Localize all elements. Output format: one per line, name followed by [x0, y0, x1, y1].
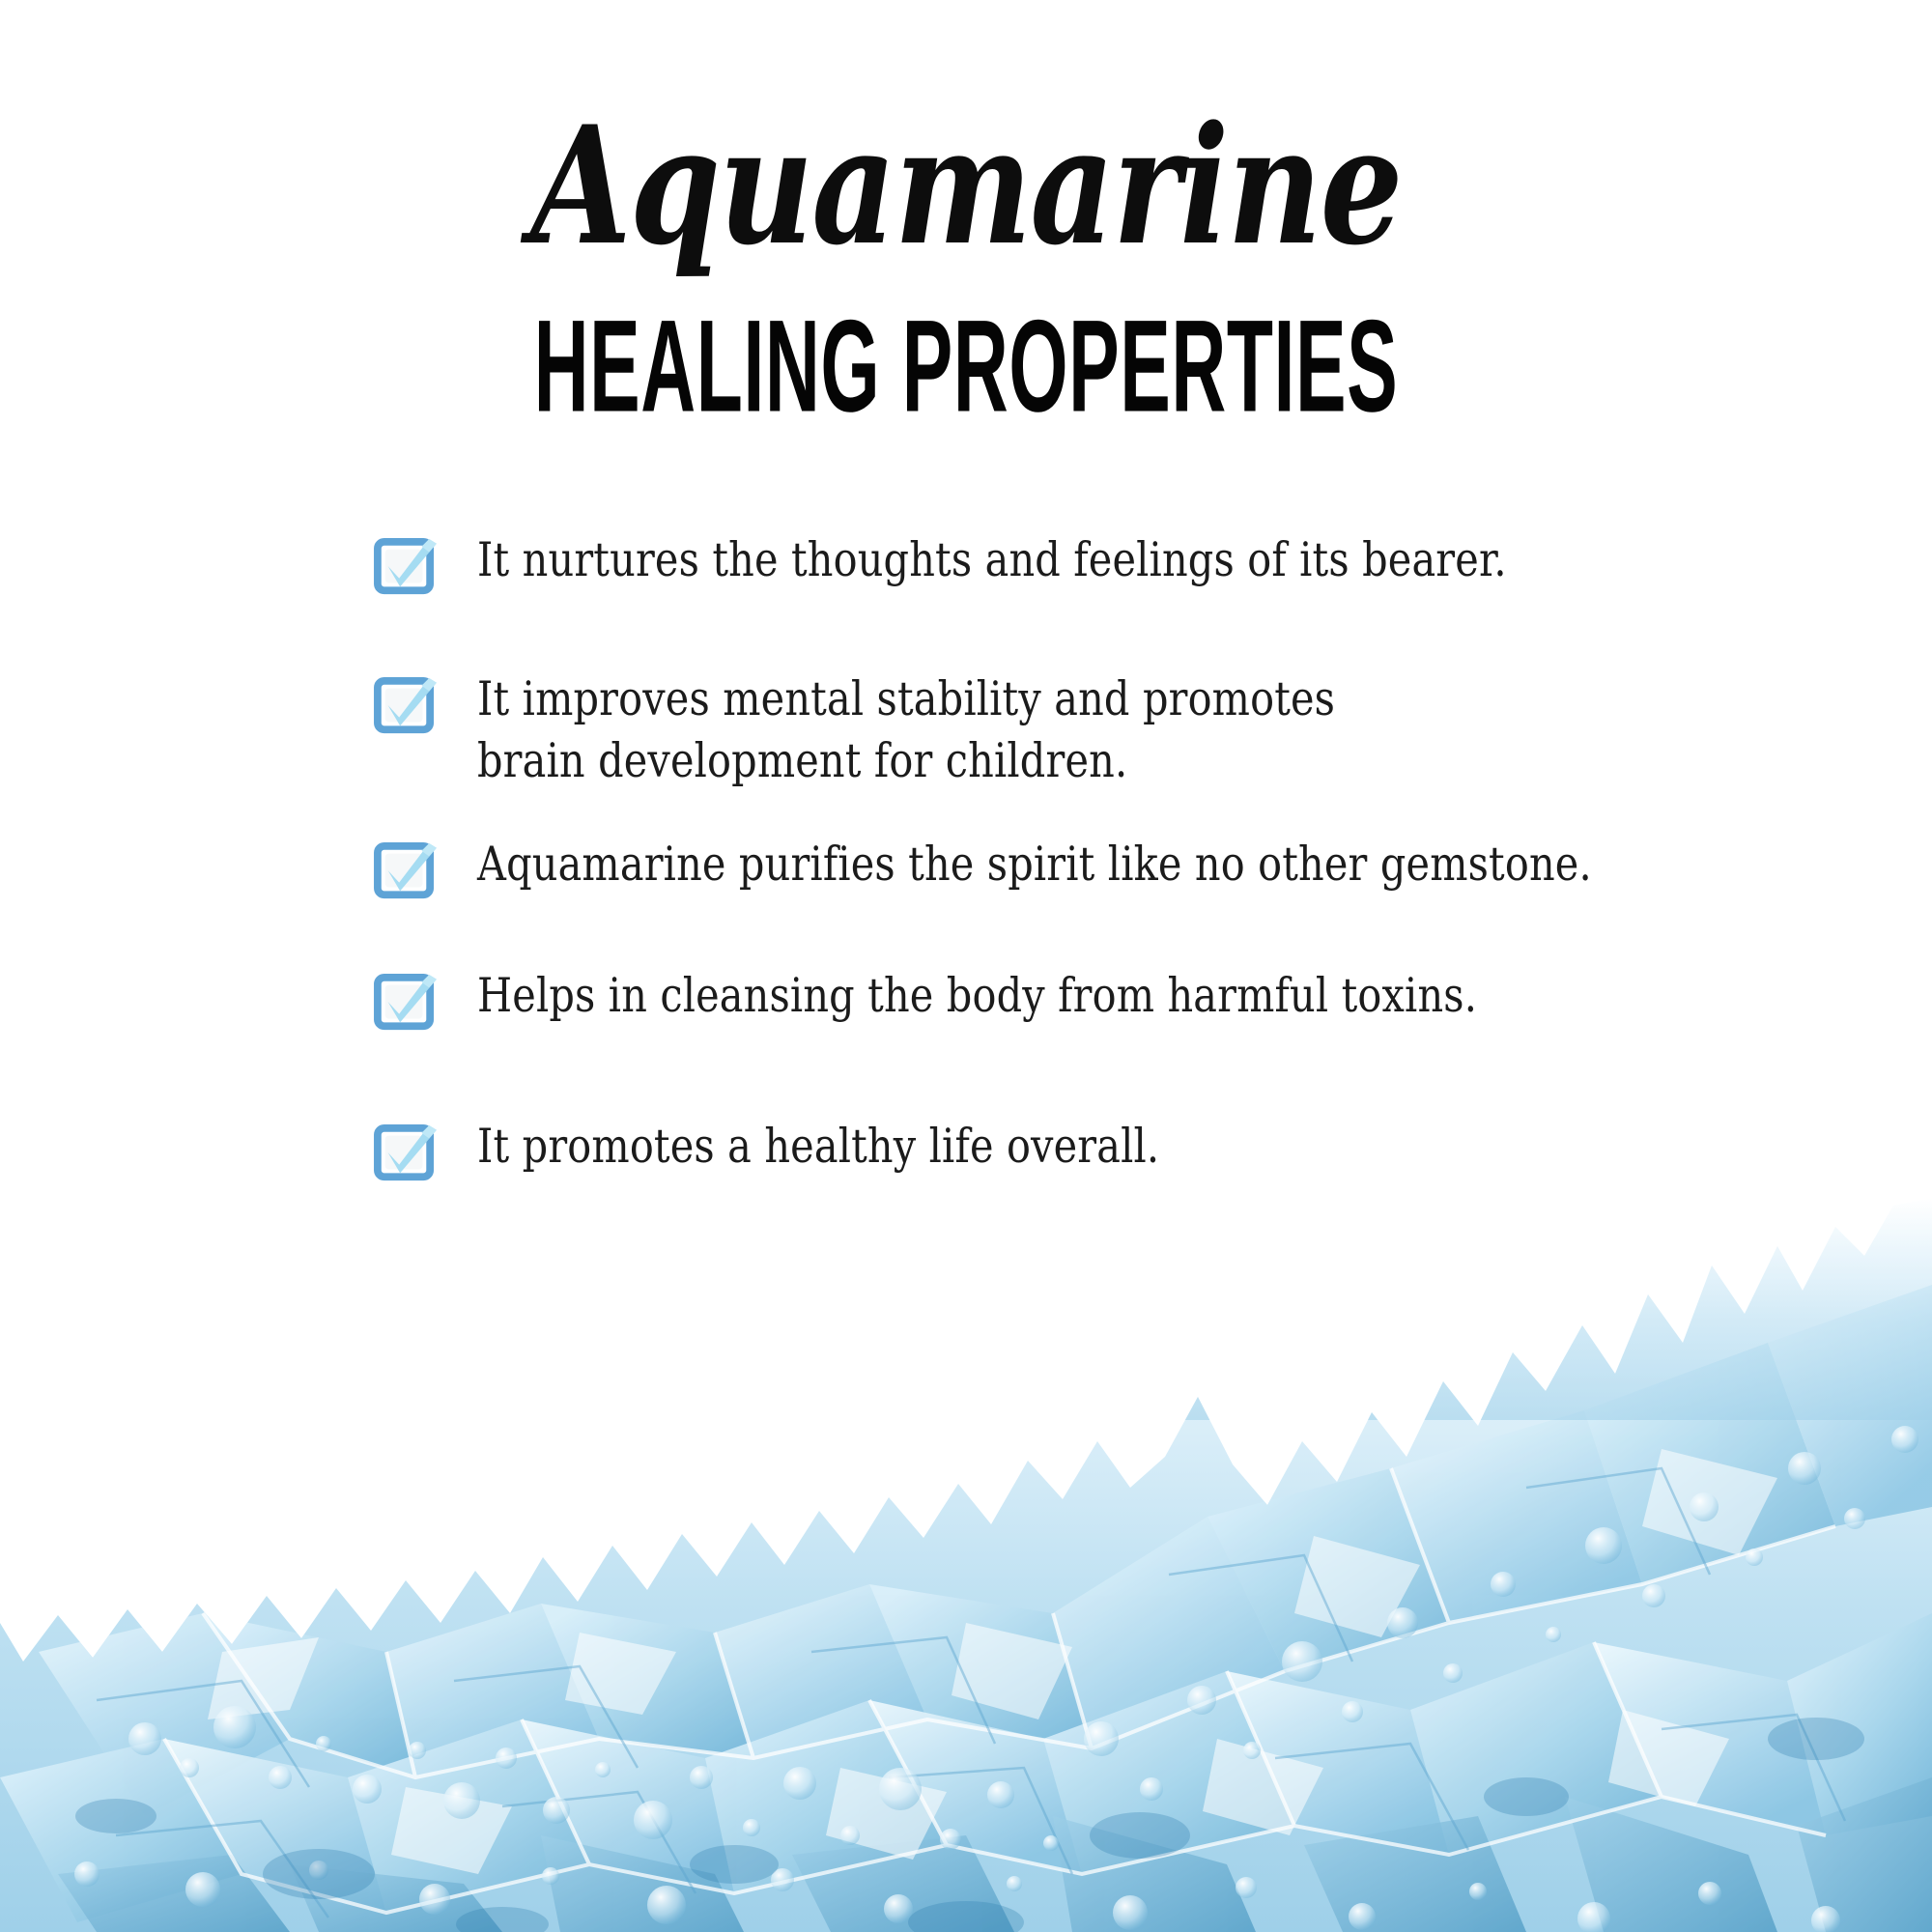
poster-header: Aquamarine HEALING PROPERTIES	[0, 0, 1932, 423]
list-item-label: It nurtures the thoughts and feelings of…	[477, 529, 1507, 591]
list-item: It nurtures the thoughts and feelings of…	[375, 529, 1882, 597]
page-subtitle: HEALING PROPERTIES	[372, 267, 1560, 433]
list-item-label: It promotes a healthy life overall.	[477, 1116, 1159, 1178]
list-item: Aquamarine purifies the spirit like no o…	[375, 834, 1882, 901]
checkbox-checked-icon[interactable]	[375, 841, 435, 901]
list-item: It promotes a healthy life overall.	[375, 1116, 1882, 1183]
poster-canvas: Aquamarine HEALING PROPERTIES It nurture…	[0, 0, 1932, 1932]
list-item-label: Helps in cleansing the body from harmful…	[477, 965, 1477, 1027]
list-item: It improves mental stability and promote…	[375, 668, 1882, 791]
ice-cubes-photo	[0, 1198, 1932, 1932]
healing-properties-list: It nurtures the thoughts and feelings of…	[375, 529, 1882, 1183]
list-item: Helps in cleansing the body from harmful…	[375, 965, 1882, 1033]
list-item-label: It improves mental stability and promote…	[477, 668, 1335, 791]
list-item-label: Aquamarine purifies the spirit like no o…	[477, 834, 1592, 895]
checkbox-checked-icon[interactable]	[375, 1123, 435, 1183]
checkbox-checked-icon[interactable]	[375, 676, 435, 736]
checkbox-checked-icon[interactable]	[375, 973, 435, 1033]
page-title: Aquamarine	[193, 0, 1739, 267]
checkbox-checked-icon[interactable]	[375, 537, 435, 597]
